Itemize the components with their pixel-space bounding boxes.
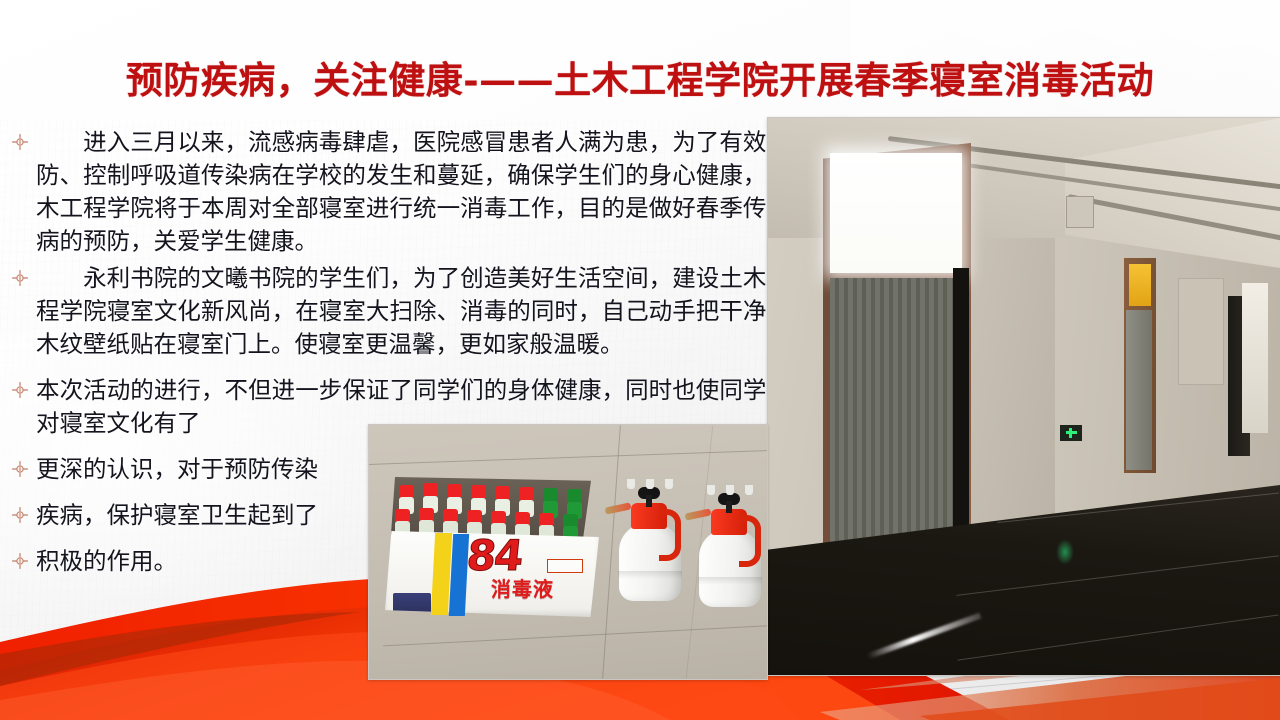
emergency-exit-sign-icon <box>1060 425 1082 441</box>
list-item-text: 永利书院的文曦书院的学生们，为了创造美好生活空间，建设土木工程学院寝室文化新风尚… <box>36 262 790 361</box>
diamond-compass-bullet-icon <box>8 545 36 578</box>
product-number-label: 84 <box>465 535 524 577</box>
list-item: 永利书院的文曦书院的学生们，为了创造美好生活空间，建设土木工程学院寝室文化新风尚… <box>8 262 790 361</box>
list-item: 进入三月以来，流感病毒肆虐，医院感冒患者人满为患，为了有效预防、控制呼吸道传染病… <box>8 126 790 258</box>
disinfectant-supplies-photo: 84 消毒液 <box>368 424 768 680</box>
product-name-label: 消毒液 <box>491 573 554 602</box>
diamond-compass-bullet-icon <box>8 262 36 295</box>
brand-logo <box>393 593 431 615</box>
diamond-compass-bullet-icon <box>8 453 36 486</box>
transom-window <box>830 153 962 273</box>
product-badge <box>547 559 583 573</box>
diamond-compass-bullet-icon <box>8 126 36 159</box>
disinfectant-carton: 84 消毒液 <box>385 477 599 617</box>
list-item-text: 进入三月以来，流感病毒肆虐，医院感冒患者人满为患，为了有效预防、控制呼吸道传染病… <box>36 126 790 258</box>
diamond-compass-bullet-icon <box>8 374 36 407</box>
page-title: 预防疾病，关注健康-——土木工程学院开展春季寝室消毒活动 <box>0 50 1280 104</box>
dormitory-corridor-photo <box>767 117 1280 676</box>
diamond-compass-bullet-icon <box>8 499 36 532</box>
slide-canvas: 预防疾病，关注健康-——土木工程学院开展春季寝室消毒活动 进入三月以来，流感病毒… <box>0 0 1280 720</box>
